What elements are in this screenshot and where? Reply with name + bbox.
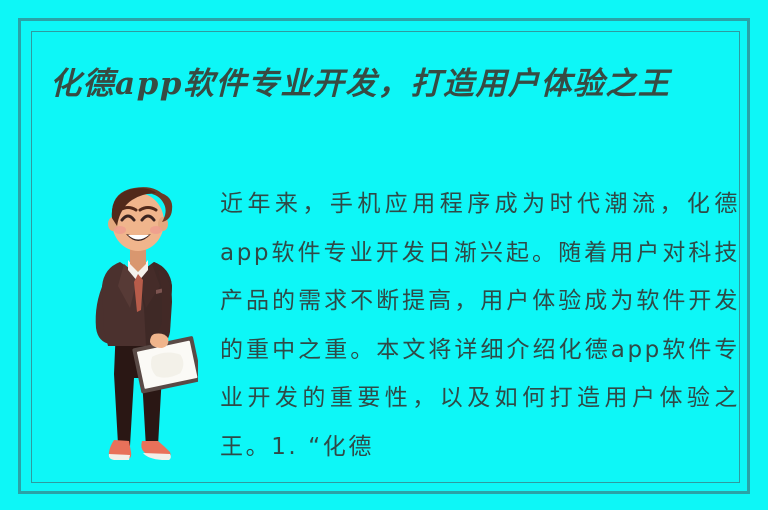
article-body: 近年来，手机应用程序成为时代潮流，化德app软件专业开发日渐兴起。随着用户对科技… — [220, 180, 740, 472]
businessman-illustration — [74, 178, 198, 478]
page-title: 化德app软件专业开发，打造用户体验之王 — [50, 62, 744, 106]
shoes-shape — [109, 440, 171, 460]
poster-canvas: 化德app软件专业开发，打造用户体验之王 — [0, 0, 768, 510]
